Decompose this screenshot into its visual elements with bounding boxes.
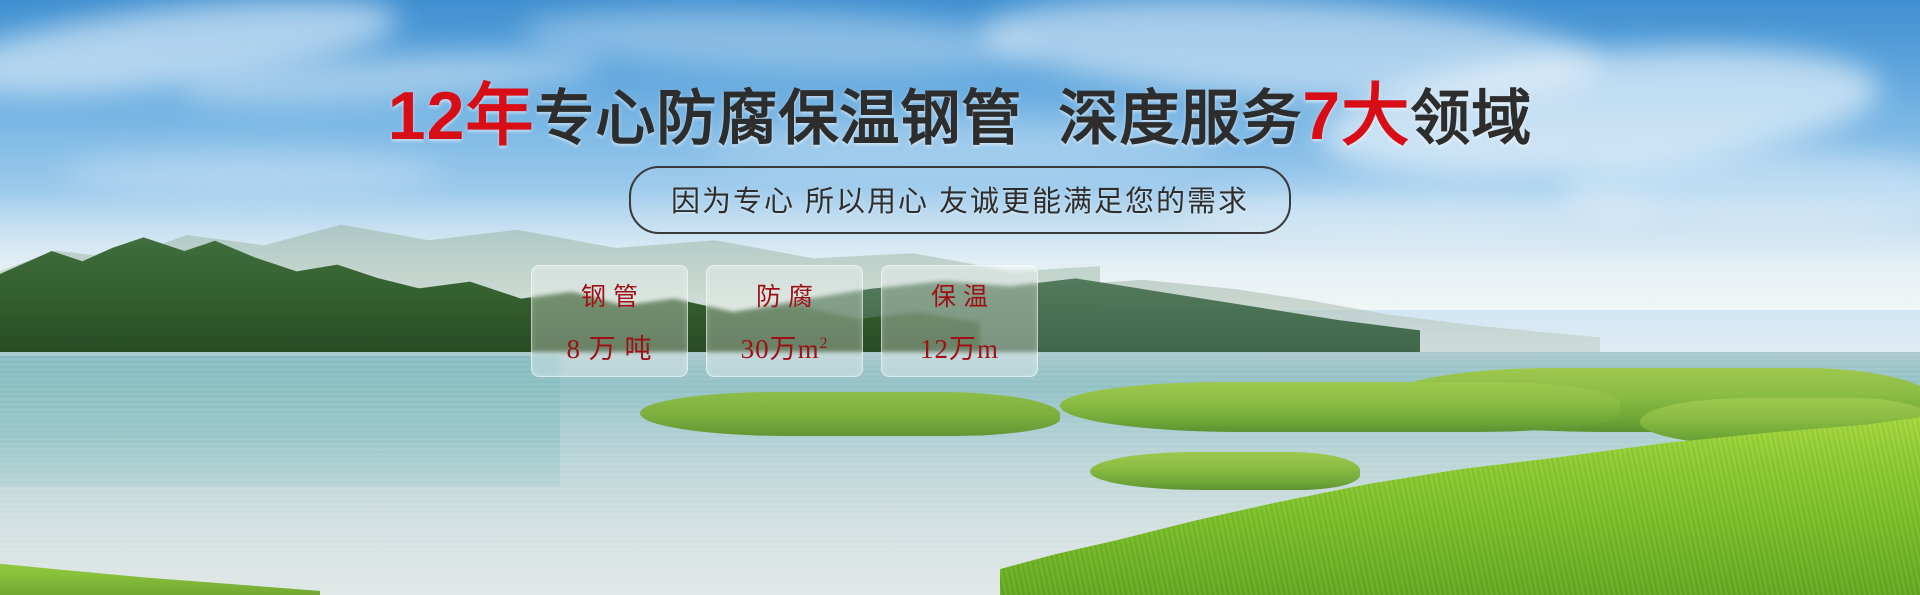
stat-value: 12万m bbox=[920, 327, 999, 366]
stat-value-text: 8 万 吨 bbox=[567, 334, 653, 364]
stat-label: 钢管 bbox=[574, 277, 645, 313]
stat-value-text: 30万m bbox=[741, 334, 820, 364]
stat-label: 保温 bbox=[924, 277, 995, 313]
headline-segment-fields: 领域 bbox=[1410, 85, 1532, 152]
hero-banner: 12年专心防腐保温钢管深度服务7大领域 因为专心 所以用心 友诚更能满足您的需求… bbox=[0, 0, 1920, 595]
stat-label: 防腐 bbox=[749, 277, 820, 313]
headline-segment-focus: 专心防腐保温钢管 bbox=[534, 85, 1022, 152]
stat-card-steel-pipe[interactable]: 钢管 8 万 吨 bbox=[531, 265, 688, 377]
banner-subtitle: 因为专心 所以用心 友诚更能满足您的需求 bbox=[629, 166, 1291, 234]
headline-segment-seven: 7大 bbox=[1302, 78, 1410, 154]
stat-card-insulation[interactable]: 保温 12万m bbox=[881, 265, 1038, 377]
headline-segment-years: 12年 bbox=[388, 78, 535, 154]
stat-value: 30万m2 bbox=[741, 327, 829, 366]
stat-card-group: 钢管 8 万 吨 防腐 30万m2 保温 12万m bbox=[531, 265, 1038, 377]
stat-value-text: 12万m bbox=[920, 334, 999, 364]
banner-subtitle-container: 因为专心 所以用心 友诚更能满足您的需求 bbox=[0, 166, 1920, 234]
banner-content: 12年专心防腐保温钢管深度服务7大领域 因为专心 所以用心 友诚更能满足您的需求… bbox=[0, 0, 1920, 595]
stat-card-anticorrosion[interactable]: 防腐 30万m2 bbox=[706, 265, 863, 377]
headline-segment-service: 深度服务 bbox=[1058, 85, 1302, 152]
stat-value-superscript: 2 bbox=[820, 335, 829, 352]
banner-headline: 12年专心防腐保温钢管深度服务7大领域 bbox=[0, 82, 1920, 150]
stat-value: 8 万 吨 bbox=[567, 327, 653, 366]
